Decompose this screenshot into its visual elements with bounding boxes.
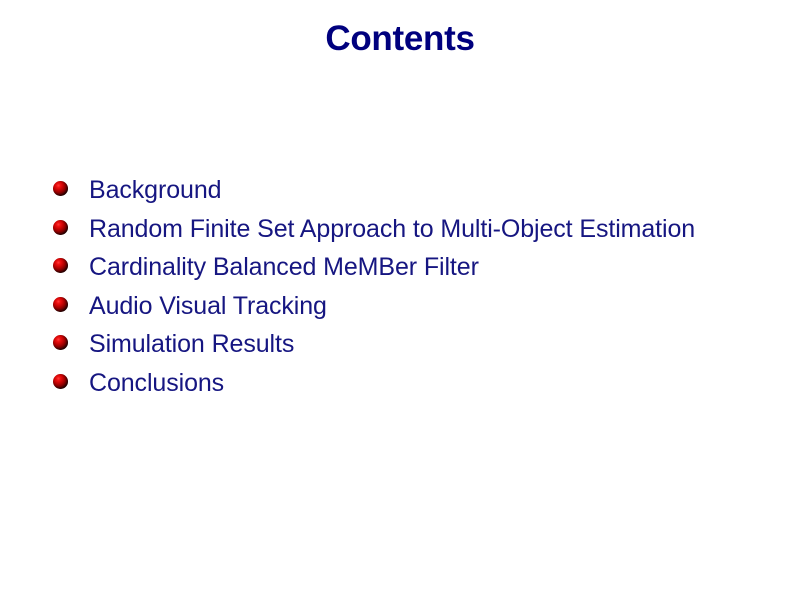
red-sphere-bullet-icon [53,181,68,196]
list-item[interactable]: Conclusions [53,369,783,408]
page-title: Contents [0,18,800,60]
list-item[interactable]: Audio Visual Tracking [53,292,783,331]
presentation-slide: Contents Background Random Finite Set Ap… [0,0,800,599]
list-item-label-background: Background [89,176,221,204]
list-item-label-simulation-results: Simulation Results [89,330,294,358]
list-item[interactable]: Random Finite Set Approach to Multi-Obje… [53,215,783,254]
list-item[interactable]: Cardinality Balanced MeMBer Filter [53,253,783,292]
list-item-label-random-finite-set: Random Finite Set Approach to Multi-Obje… [89,215,695,243]
list-item-label-conclusions: Conclusions [89,369,224,397]
list-item[interactable]: Background [53,176,783,215]
contents-list: Background Random Finite Set Approach to… [53,176,783,408]
list-item[interactable]: Simulation Results [53,330,783,369]
list-item-label-cardinality-balanced-member-filter: Cardinality Balanced MeMBer Filter [89,253,479,281]
red-sphere-bullet-icon [53,335,68,350]
red-sphere-bullet-icon [53,220,68,235]
red-sphere-bullet-icon [53,297,68,312]
red-sphere-bullet-icon [53,374,68,389]
list-item-label-audio-visual-tracking: Audio Visual Tracking [89,292,327,320]
red-sphere-bullet-icon [53,258,68,273]
